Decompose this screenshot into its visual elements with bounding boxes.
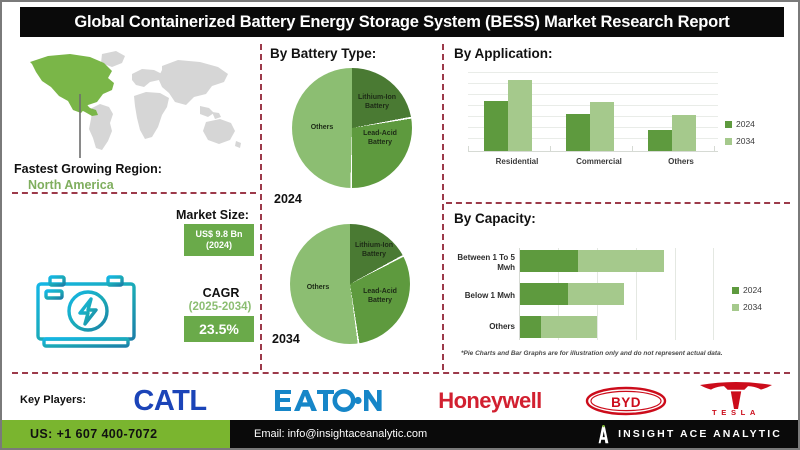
bar-below1-2024 [520, 283, 568, 305]
divider-vertical-left [260, 44, 262, 370]
axis-tick [714, 146, 715, 152]
bar-row-between-1-to-5-mwh [520, 250, 664, 272]
insight-ace-logo-icon [597, 425, 610, 444]
bar-others-2024 [648, 130, 672, 151]
brand-name: INSIGHT ACE ANALYTIC [618, 428, 782, 440]
battery-type-title: By Battery Type: [270, 46, 376, 61]
legend-item-2034: 2034 [732, 302, 762, 312]
pie-2034-slice-label-others: Others [296, 284, 340, 293]
cagr-value: 23.5% [199, 321, 239, 337]
bar-commercial-2024 [566, 114, 590, 151]
legend-label-2024: 2024 [736, 119, 755, 129]
capacity-category-label-1: Below 1 Mwh [445, 291, 515, 301]
logo-honeywell-text: Honeywell [438, 388, 541, 414]
pie-2034-year: 2034 [272, 332, 300, 346]
bar-others-2034 [672, 115, 696, 151]
svg-text:TESLA: TESLA [712, 408, 760, 416]
application-category-label-0: Residential [472, 157, 562, 166]
logo-byd: BYD [584, 386, 668, 416]
cagr-years: (2025-2034) [180, 301, 260, 313]
logo-catl: CATL [110, 386, 230, 416]
key-players-label: Key Players: [20, 394, 86, 406]
bar-row-below-1-mwh [520, 283, 624, 305]
cagr-label: CAGR [188, 286, 254, 300]
bar-below1-2034 [568, 283, 624, 305]
legend-label-2034: 2034 [736, 136, 755, 146]
divider-horizontal-left [12, 192, 256, 194]
gridline [675, 248, 676, 340]
infographic-page: Global Containerized Battery Energy Stor… [0, 0, 800, 450]
region-label: Fastest Growing Region: [14, 162, 254, 176]
application-title: By Application: [454, 46, 553, 61]
bar-group-others [648, 115, 696, 151]
pie-2034-slice-label-lithium: Lithium-Ion Battery [346, 242, 402, 260]
battery-bolt-icon [26, 264, 146, 356]
divider-horizontal-bottom [12, 372, 790, 374]
capacity-category-label-0: Between 1 To 5 Mwh [445, 253, 515, 274]
bar-commercial-2034 [590, 102, 614, 151]
axis-tick [632, 146, 633, 152]
application-legend: 2024 2034 [725, 119, 755, 153]
bar-residential-2034 [508, 80, 532, 151]
x-axis [468, 151, 718, 152]
footer-phone[interactable]: US: +1 607 400-7072 [2, 420, 230, 448]
pie-2024-slice-label-lithium: Lithium-Ion Battery [350, 94, 404, 112]
world-map-icon [14, 46, 254, 164]
legend-swatch-2024-icon [732, 287, 739, 294]
bar-group-commercial [566, 102, 614, 151]
application-category-label-2: Others [636, 157, 726, 166]
logo-eaton [274, 387, 386, 415]
brand-block: INSIGHT ACE ANALYTIC [597, 420, 782, 448]
chart-footnote: *Pie Charts and Bar Graphs are for illus… [461, 350, 723, 357]
market-size-year: (2024) [206, 240, 232, 251]
divider-vertical-mid [442, 44, 444, 370]
legend-swatch-2034-icon [732, 304, 739, 311]
capacity-title: By Capacity: [454, 211, 536, 226]
page-title: Global Containerized Battery Energy Stor… [20, 7, 784, 37]
pie-2024-slice-label-leadacid: Lead-Acid Battery [354, 130, 406, 148]
axis-tick [468, 146, 469, 152]
page-title-text: Global Containerized Battery Energy Stor… [74, 13, 729, 32]
bar-group-residential [484, 80, 532, 151]
bar-others-cap-2034 [541, 316, 597, 338]
application-category-label-1: Commercial [554, 157, 644, 166]
legend-item-2024: 2024 [725, 119, 755, 129]
pie-2024-year: 2024 [274, 192, 302, 206]
divider-horizontal-right [446, 202, 790, 204]
gridline [468, 72, 718, 73]
gridline [713, 248, 714, 340]
market-size-value: US$ 9.8 Bn [195, 229, 242, 240]
bar-between1to5-2024 [520, 250, 578, 272]
bar-others-cap-2024 [520, 316, 541, 338]
region-value: North America [28, 178, 254, 192]
legend-item-2024: 2024 [732, 285, 762, 295]
market-size-label: Market Size: [176, 208, 249, 222]
legend-item-2034: 2034 [725, 136, 755, 146]
cagr-badge: 23.5% [184, 316, 254, 342]
legend-label-2024: 2024 [743, 285, 762, 295]
axis-tick [550, 146, 551, 152]
capacity-bar-chart [519, 248, 714, 340]
legend-swatch-2024-icon [725, 121, 732, 128]
bar-row-others [520, 316, 597, 338]
footer-bar: US: +1 607 400-7072 Email: info@insighta… [2, 420, 798, 448]
capacity-legend: 2024 2034 [732, 285, 762, 319]
logo-tesla: TESLA [690, 380, 782, 416]
legend-label-2034: 2034 [743, 302, 762, 312]
application-bar-chart [468, 72, 718, 152]
bar-between1to5-2034 [578, 250, 664, 272]
logo-catl-text: CATL [133, 385, 206, 418]
pie-2024-slice-label-others: Others [300, 124, 344, 133]
bar-residential-2024 [484, 101, 508, 151]
svg-text:BYD: BYD [611, 395, 641, 410]
pie-2034-slice-label-leadacid: Lead-Acid Battery [354, 288, 406, 306]
logo-honeywell: Honeywell [422, 388, 558, 414]
legend-swatch-2034-icon [725, 138, 732, 145]
fastest-growing-region: Fastest Growing Region: North America [14, 162, 254, 192]
market-size-badge: US$ 9.8 Bn (2024) [184, 224, 254, 256]
capacity-category-label-2: Others [445, 322, 515, 332]
